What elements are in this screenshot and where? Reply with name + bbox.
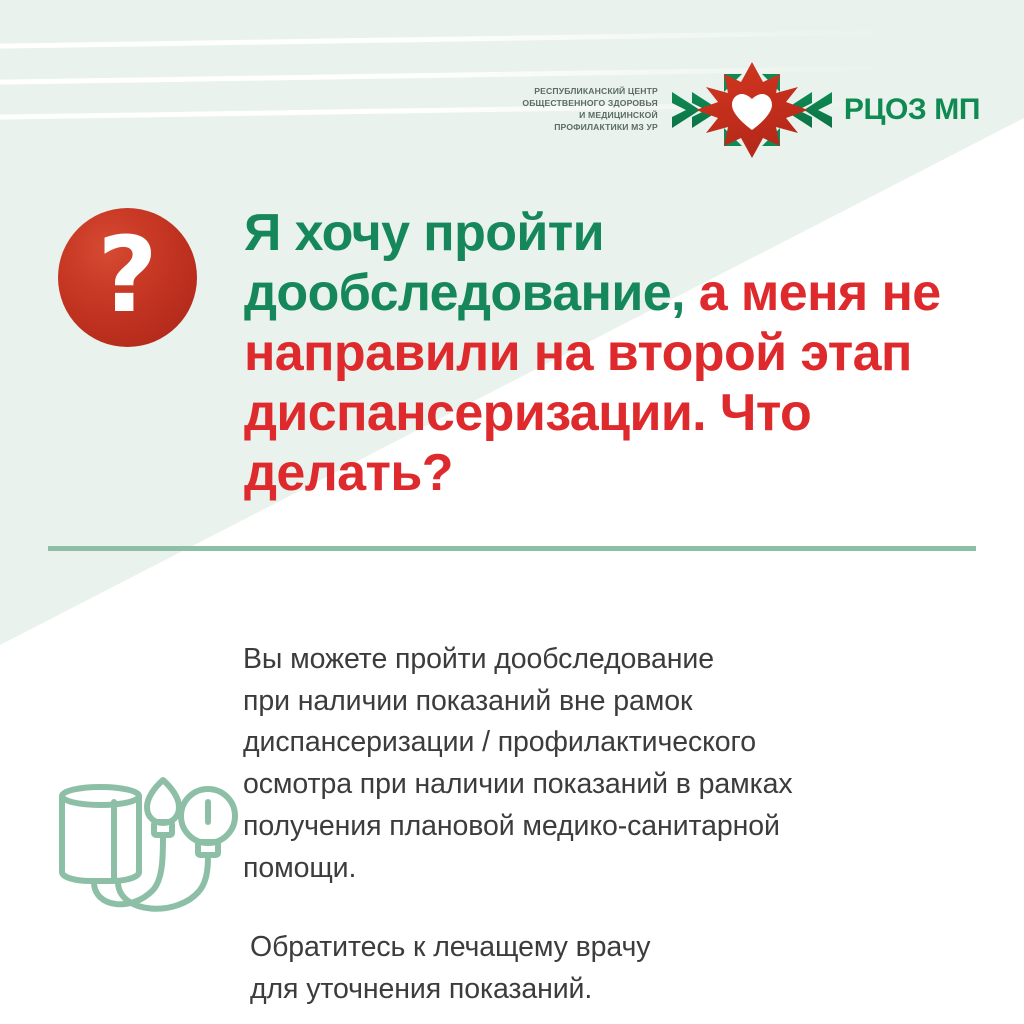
headline-green-segment: Я хочу пройти дообследование, xyxy=(244,204,685,322)
organization-logo: РЕСПУБЛИКАНСКИЙ ЦЕНТР ОБЩЕСТВЕННОГО ЗДОР… xyxy=(522,62,980,158)
blood-pressure-monitor-icon xyxy=(48,762,242,918)
body-paragraph-2: Обратитесь к лечащему врачу для уточнени… xyxy=(243,927,1003,1011)
section-divider xyxy=(48,546,976,551)
question-mark-badge: ? xyxy=(58,208,197,347)
page-title: Я хочу пройти дообследование, а меня не … xyxy=(244,203,1000,503)
eight-pointed-star-with-heart-icon xyxy=(668,62,836,158)
question-mark-icon: ? xyxy=(97,223,157,327)
body-text-block: Вы можете пройти дообследование при нали… xyxy=(243,597,1003,1024)
logo-abbreviation: РЦОЗ МП xyxy=(844,95,980,125)
body-paragraph-1: Вы можете пройти дообследование при нали… xyxy=(243,643,793,884)
poster-canvas: РЕСПУБЛИКАНСКИЙ ЦЕНТР ОБЩЕСТВЕННОГО ЗДОР… xyxy=(0,0,1024,1024)
logo-caption-text: РЕСПУБЛИКАНСКИЙ ЦЕНТР ОБЩЕСТВЕННОГО ЗДОР… xyxy=(522,85,659,136)
